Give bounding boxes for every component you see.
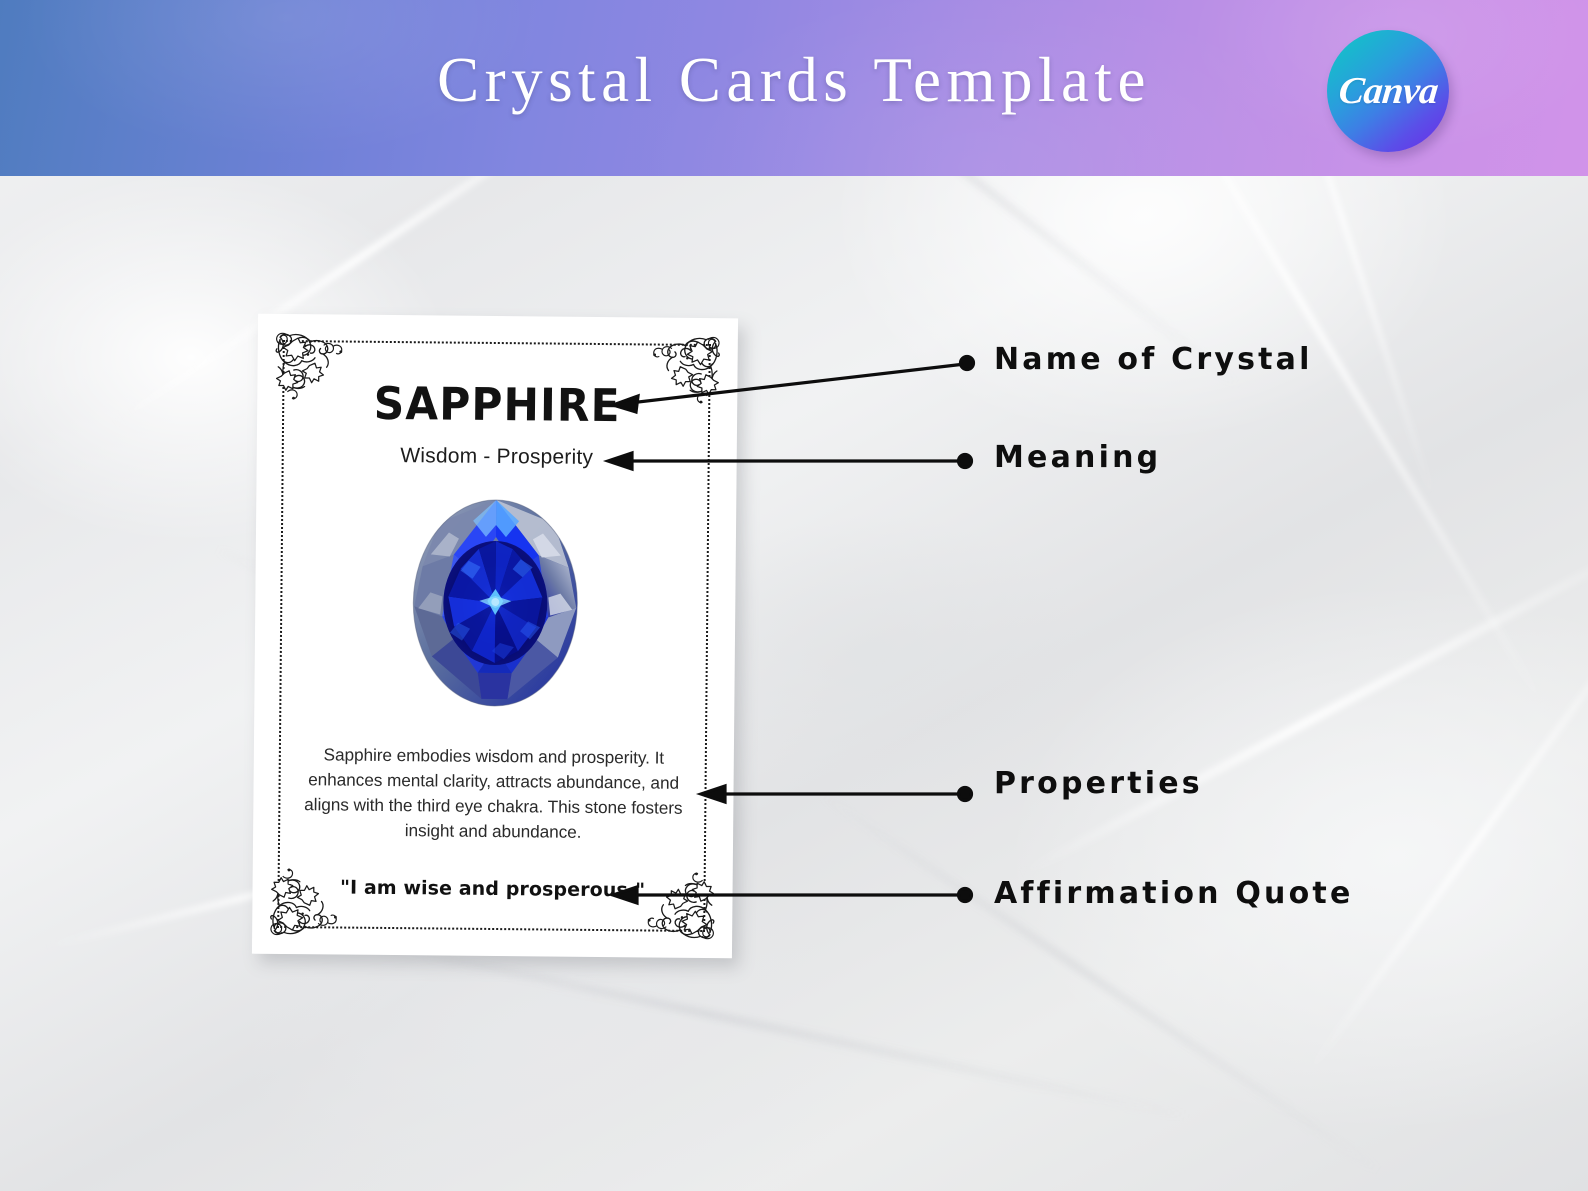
annotation-label-properties: Properties (994, 766, 1203, 801)
annotation-label-name-of-crystal: Name of Crystal (994, 342, 1313, 377)
annotation-label-affirmation-quote: Affirmation Quote (994, 876, 1354, 911)
affirmation-quote: "I am wise and prosperous." (252, 876, 732, 903)
marble-vein (817, 790, 1384, 1174)
canva-wordmark: Canva (1336, 69, 1439, 113)
crystal-name: SAPPHIRE (271, 376, 723, 433)
marble-vein (1305, 570, 1588, 1075)
marble-vein (1020, 532, 1588, 878)
poster-canvas: Crystal Cards Template Canva (0, 0, 1588, 1191)
canva-logo-badge[interactable]: Canva (1327, 30, 1449, 152)
sapphire-gem-image (407, 496, 583, 710)
annotation-label-meaning: Meaning (994, 440, 1161, 475)
crystal-card[interactable]: SAPPHIRE Wisdom - Prosperity (252, 314, 738, 959)
marble-background (0, 0, 1588, 1191)
crystal-properties: Sapphire embodies wisdom and prosperity.… (287, 742, 700, 846)
crystal-meaning: Wisdom - Prosperity (257, 443, 737, 472)
